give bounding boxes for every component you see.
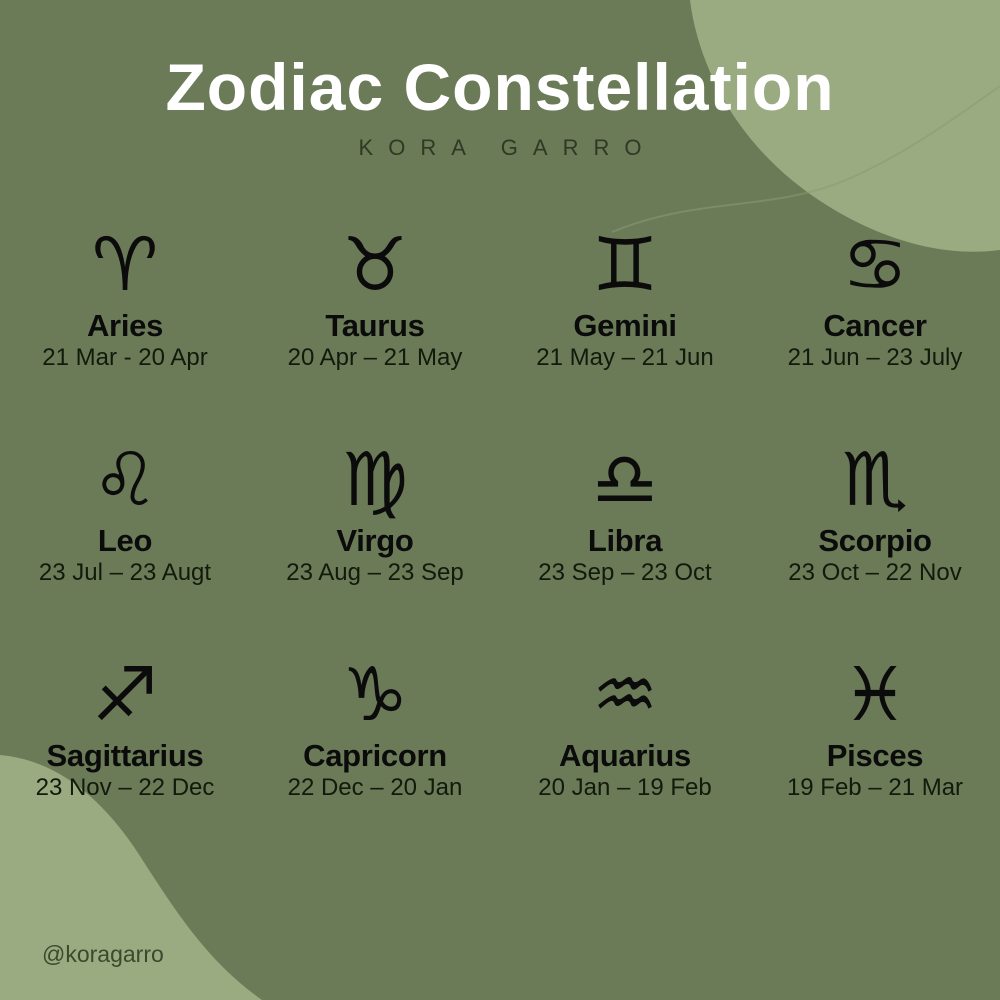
sign-dates: 23 Jul – 23 Augt bbox=[39, 560, 211, 585]
sign-dates: 21 Mar - 20 Apr bbox=[42, 345, 207, 370]
sign-dates: 21 May – 21 Jun bbox=[536, 345, 713, 370]
sign-name: Pisces bbox=[827, 740, 923, 772]
aquarius-icon: ♒ bbox=[592, 652, 658, 738]
libra-icon: ♎ bbox=[592, 437, 658, 523]
sign-name: Libra bbox=[588, 525, 662, 557]
sign-dates: 20 Apr – 21 May bbox=[288, 345, 463, 370]
sign-name: Aries bbox=[87, 310, 163, 342]
zodiac-card-taurus: ♉ Taurus 20 Apr – 21 May bbox=[250, 222, 500, 437]
zodiac-card-cancer: ♋ Cancer 21 Jun – 23 July bbox=[750, 222, 1000, 437]
sign-name: Gemini bbox=[573, 310, 676, 342]
sign-dates: 23 Oct – 22 Nov bbox=[788, 560, 961, 585]
sign-name: Aquarius bbox=[559, 740, 691, 772]
pisces-icon: ♓ bbox=[842, 652, 908, 738]
sign-dates: 22 Dec – 20 Jan bbox=[288, 775, 463, 800]
cancer-icon: ♋ bbox=[842, 222, 908, 308]
sagittarius-icon: ♐ bbox=[92, 652, 158, 738]
zodiac-card-aquarius: ♒ Aquarius 20 Jan – 19 Feb bbox=[500, 652, 750, 867]
taurus-icon: ♉ bbox=[342, 222, 408, 308]
page-subtitle: KORA GARRO bbox=[0, 121, 1000, 161]
sign-dates: 19 Feb – 21 Mar bbox=[787, 775, 963, 800]
zodiac-card-capricorn: ♑ Capricorn 22 Dec – 20 Jan bbox=[250, 652, 500, 867]
zodiac-card-libra: ♎ Libra 23 Sep – 23 Oct bbox=[500, 437, 750, 652]
zodiac-card-virgo: ♍ Virgo 23 Aug – 23 Sep bbox=[250, 437, 500, 652]
sign-name: Sagittarius bbox=[47, 740, 204, 772]
zodiac-card-pisces: ♓ Pisces 19 Feb – 21 Mar bbox=[750, 652, 1000, 867]
aries-icon: ♈ bbox=[92, 222, 158, 308]
sign-name: Virgo bbox=[336, 525, 413, 557]
zodiac-card-aries: ♈ Aries 21 Mar - 20 Apr bbox=[0, 222, 250, 437]
zodiac-card-leo: ♌ Leo 23 Jul – 23 Augt bbox=[0, 437, 250, 652]
sign-name: Capricorn bbox=[303, 740, 447, 772]
gemini-icon: ♊ bbox=[592, 222, 658, 308]
leo-icon: ♌ bbox=[92, 437, 158, 523]
sign-name: Leo bbox=[98, 525, 152, 557]
zodiac-poster: Zodiac Constellation KORA GARRO ♈ Aries … bbox=[0, 0, 1000, 1000]
zodiac-card-gemini: ♊ Gemini 21 May – 21 Jun bbox=[500, 222, 750, 437]
zodiac-card-sagittarius: ♐ Sagittarius 23 Nov – 22 Dec bbox=[0, 652, 250, 867]
sign-dates: 21 Jun – 23 July bbox=[788, 345, 963, 370]
sign-name: Cancer bbox=[823, 310, 926, 342]
capricorn-icon: ♑ bbox=[342, 652, 408, 738]
virgo-icon: ♍ bbox=[342, 437, 408, 523]
zodiac-grid: ♈ Aries 21 Mar - 20 Apr ♉ Taurus 20 Apr … bbox=[0, 222, 1000, 867]
sign-dates: 23 Sep – 23 Oct bbox=[538, 560, 711, 585]
zodiac-card-scorpio: ♏ Scorpio 23 Oct – 22 Nov bbox=[750, 437, 1000, 652]
sign-dates: 20 Jan – 19 Feb bbox=[538, 775, 711, 800]
social-handle: @koragarro bbox=[42, 941, 164, 968]
sign-dates: 23 Aug – 23 Sep bbox=[286, 560, 464, 585]
poster-header: Zodiac Constellation KORA GARRO bbox=[0, 0, 1000, 161]
sign-name: Taurus bbox=[325, 310, 424, 342]
scorpio-icon: ♏ bbox=[842, 437, 908, 523]
page-title: Zodiac Constellation bbox=[0, 0, 1000, 121]
sign-name: Scorpio bbox=[818, 525, 931, 557]
sign-dates: 23 Nov – 22 Dec bbox=[36, 775, 215, 800]
